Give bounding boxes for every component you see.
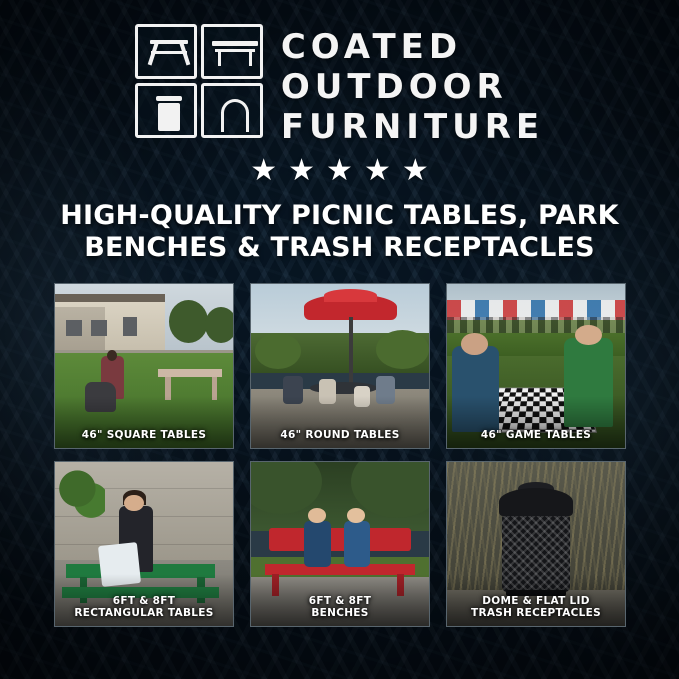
gallery-caption-line-2: RECTANGULAR TABLES xyxy=(74,607,213,619)
gallery-item-game-tables[interactable]: 46" GAME TABLES xyxy=(446,283,626,449)
dome-receptacle-icon xyxy=(201,83,263,138)
star-icon-3: ★ xyxy=(326,156,353,186)
gallery-item-benches[interactable]: 6FT & 8FT BENCHES xyxy=(250,461,430,627)
gallery-item-rectangular-tables[interactable]: 6FT & 8FT RECTANGULAR TABLES xyxy=(54,461,234,627)
gallery-caption-line-1: 6FT & 8FT xyxy=(113,595,175,607)
picnic-table-icon xyxy=(135,24,197,79)
logo-word-furniture: FURNITURE xyxy=(281,108,544,146)
logo-wordmark: COATED OUTDOOR FURNITURE xyxy=(281,24,544,146)
gallery-caption-line-1: 46" GAME TABLES xyxy=(481,429,591,441)
headline-line-1: HIGH-QUALITY PICNIC TABLES, PARK xyxy=(60,200,619,231)
star-icon-5: ★ xyxy=(402,156,429,186)
brand-logo: COATED OUTDOOR FURNITURE xyxy=(0,24,679,146)
park-bench-icon xyxy=(201,24,263,79)
gallery-caption: 46" GAME TABLES xyxy=(447,429,625,441)
logo-mark xyxy=(135,24,265,142)
gallery-caption-line-2: TRASH RECEPTACLES xyxy=(471,607,601,619)
headline-line-2: BENCHES & TRASH RECEPTACLES xyxy=(28,232,651,264)
page-title: HIGH-QUALITY PICNIC TABLES, PARK BENCHES… xyxy=(0,200,679,264)
star-rating: ★ ★ ★ ★ ★ xyxy=(0,156,679,186)
gallery-caption-line-1: 6FT & 8FT xyxy=(309,595,371,607)
gallery-caption: 6FT & 8FT BENCHES xyxy=(251,595,429,619)
gallery-caption-line-2: BENCHES xyxy=(311,607,368,619)
promo-banner: COATED OUTDOOR FURNITURE ★ ★ ★ ★ ★ HIGH-… xyxy=(0,0,679,679)
gallery-caption: 46" SQUARE TABLES xyxy=(55,429,233,441)
gallery-item-trash-receptacles[interactable]: DOME & FLAT LID TRASH RECEPTACLES xyxy=(446,461,626,627)
gallery-item-round-tables[interactable]: 46" ROUND TABLES xyxy=(250,283,430,449)
star-icon-2: ★ xyxy=(288,156,315,186)
gallery-caption-line-1: 46" SQUARE TABLES xyxy=(82,429,206,441)
product-gallery: 46" SQUARE TABLES xyxy=(54,283,626,627)
gallery-caption: 46" ROUND TABLES xyxy=(251,429,429,441)
gallery-caption-line-1: DOME & FLAT LID xyxy=(482,595,590,607)
logo-word-outdoor: OUTDOOR xyxy=(281,68,544,106)
trash-can-icon xyxy=(135,83,197,138)
star-icon-1: ★ xyxy=(250,156,277,186)
logo-word-coated: COATED xyxy=(281,28,544,66)
gallery-item-square-tables[interactable]: 46" SQUARE TABLES xyxy=(54,283,234,449)
star-icon-4: ★ xyxy=(364,156,391,186)
gallery-caption: 6FT & 8FT RECTANGULAR TABLES xyxy=(55,595,233,619)
gallery-caption: DOME & FLAT LID TRASH RECEPTACLES xyxy=(447,595,625,619)
gallery-caption-line-1: 46" ROUND TABLES xyxy=(280,429,399,441)
